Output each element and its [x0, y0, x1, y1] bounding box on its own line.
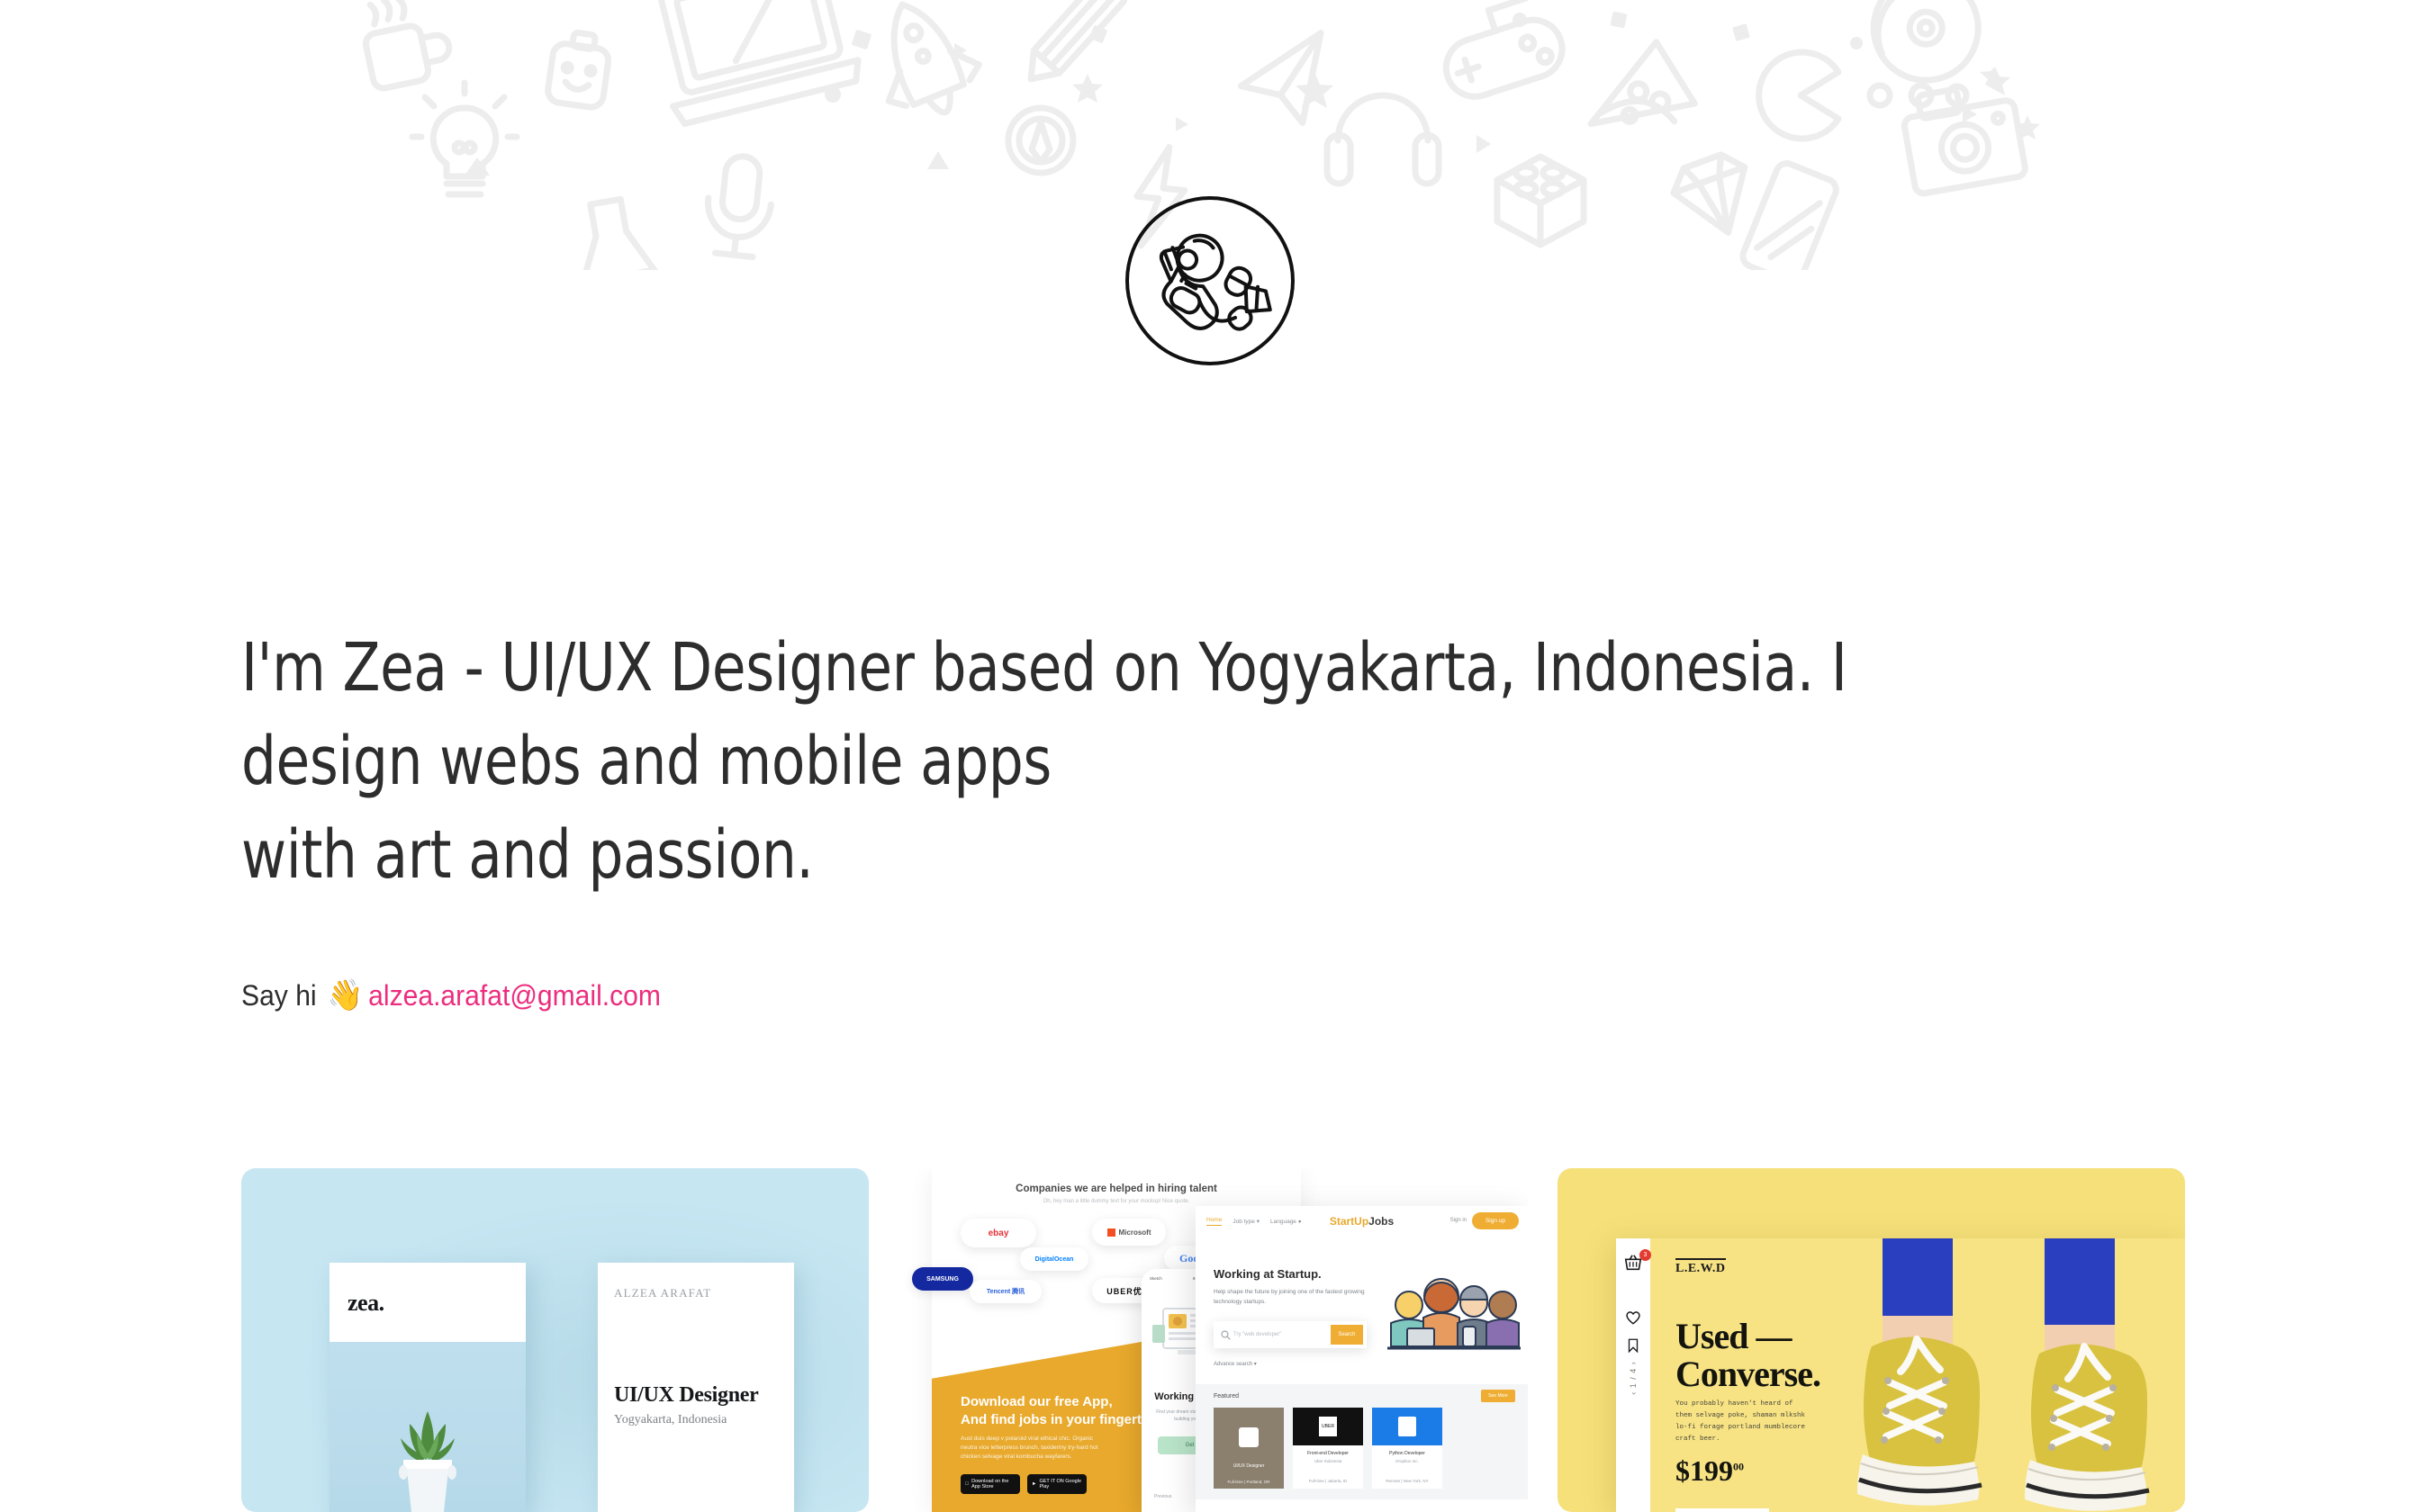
slack-logo-icon: [1239, 1427, 1259, 1447]
nav-language-label: Language: [1270, 1219, 1296, 1225]
browser-paragraph: Help shape the future by joining one of …: [1214, 1287, 1365, 1307]
lightbulb-icon: [412, 83, 517, 194]
logo-pill-microsoft: Microsoft: [1092, 1219, 1166, 1246]
product-price: $19900: [1675, 1454, 1744, 1488]
brand-mark: zea.: [348, 1290, 384, 1317]
job-thumbnail: UBER: [1293, 1408, 1363, 1445]
contact-line: Say hi 👋 alzea.arafat@gmail.com: [241, 976, 661, 1014]
converse-sneakers-photo: [1832, 1238, 2185, 1512]
promo-line-2: And find jobs in your fingertips!: [961, 1412, 1165, 1427]
promo-line-1: Download our free App,: [961, 1394, 1113, 1409]
cart-badge: 3: [1639, 1249, 1651, 1261]
job-title: Python Developer: [1372, 1451, 1442, 1456]
nav-job-type-label: Job type: [1233, 1219, 1255, 1225]
brand-card-front: zea.: [330, 1263, 526, 1512]
shop-side-rail: 3 ‹ 1 / 4 ›: [1616, 1238, 1650, 1512]
heart-icon[interactable]: [1624, 1309, 1642, 1327]
diamond-icon: [1666, 148, 1764, 246]
pagination-value: 1 / 4: [1629, 1368, 1638, 1389]
search-placeholder: Try "web developer": [1233, 1332, 1281, 1337]
shop-brand-logo: L.E.W.D: [1675, 1258, 1726, 1276]
job-meta: Full-time | Jakarta, ID: [1293, 1479, 1363, 1483]
promo-heading: Download our free App, And find jobs in …: [961, 1393, 1165, 1429]
brand-part-1: StartUp: [1330, 1215, 1368, 1228]
phone-prev-link[interactable]: Previous: [1154, 1494, 1171, 1499]
rocket-icon: [857, 0, 990, 130]
portfolio-page: I'm Zea - UI/UX Designer based on Yogyak…: [0, 0, 2420, 1512]
logo-microsoft-text: Microsoft: [1119, 1228, 1151, 1237]
promo-body: Aust duis deep v polaroid viral ethical …: [961, 1435, 1109, 1462]
work-card-lewd[interactable]: 3 ‹ 1 / 4 › L.E.W.D Used —: [1558, 1168, 2185, 1512]
play-triangle-icon: ►: [1032, 1481, 1036, 1487]
microsoft-square-icon: [1107, 1228, 1115, 1237]
logo-samsung-text: SAMSUNG: [926, 1276, 959, 1282]
contact-prefix: Say hi: [241, 976, 324, 1014]
pacman-dots-icon: [1870, 85, 1966, 105]
laptop-icon: [645, 0, 862, 125]
advance-search-label: Advance search: [1214, 1362, 1252, 1367]
designer-role: UI/UX Designer: [614, 1383, 758, 1408]
phone-carrier: Sketch: [1150, 1276, 1162, 1281]
uber-logo-icon: UBER: [1319, 1417, 1337, 1436]
job-thumbnail: [1372, 1408, 1442, 1445]
job-company: Uber Indonesia: [1293, 1459, 1363, 1463]
headline-line-3: with art and passion.: [241, 808, 1898, 902]
paper-plane-icon: [1235, 33, 1332, 130]
dropbox-logo-icon: [1398, 1417, 1416, 1436]
gamepad-icon: [1432, 0, 1570, 104]
astronaut-logo[interactable]: [1124, 195, 1296, 366]
work-cards: zea.: [0, 1168, 2420, 1512]
email-link[interactable]: alzea.arafat@gmail.com: [368, 976, 661, 1014]
headphones-icon: [1327, 95, 1439, 184]
logo-ebay-text: ebay: [989, 1228, 1009, 1238]
job-title: UI/UX Designer: [1214, 1463, 1284, 1469]
left-shoe: [1857, 1336, 1982, 1505]
google-play-badge[interactable]: ► GET IT ON Google Play: [1027, 1474, 1087, 1494]
camera-icon: [1900, 79, 2027, 194]
chevron-down-icon: ▾: [1254, 1362, 1257, 1367]
logo-digitalocean-text: DigitalOcean: [1035, 1256, 1074, 1263]
cd-icon: [1864, 0, 1988, 90]
featured-label: Featured: [1214, 1393, 1239, 1399]
pizza-icon: [1591, 32, 1705, 144]
microphone-icon: [702, 153, 775, 258]
designer-location: Yogyakarta, Indonesia: [614, 1413, 727, 1427]
search-button[interactable]: Search: [1331, 1325, 1363, 1345]
google-play-label: GET IT ON Google Play: [1039, 1479, 1082, 1489]
business-card-back: ALZEA ARAFAT UI/UX Designer Yogyakarta, …: [598, 1263, 794, 1512]
advance-search-toggle[interactable]: Advance search ▾: [1214, 1361, 1257, 1367]
apple-icon: : [965, 1481, 969, 1487]
logo-pill-tencent: Tencent 腾讯: [970, 1280, 1042, 1303]
flask-icon: [563, 194, 667, 270]
page-headline: I'm Zea - UI/UX Designer based on Yogyak…: [241, 621, 1898, 902]
work-card-stationery[interactable]: zea.: [241, 1168, 869, 1512]
price-amount: $199: [1675, 1454, 1733, 1487]
bookmark-icon[interactable]: [1625, 1337, 1641, 1354]
lego-brick-icon: [1497, 157, 1584, 245]
browser-heading: Working at Startup.: [1214, 1267, 1322, 1281]
product-title-line-2: Converse.: [1675, 1354, 1820, 1394]
nav-item-job-type[interactable]: Job type ▾: [1233, 1218, 1260, 1225]
plant-photo: [330, 1342, 526, 1512]
work-card-startupjobs[interactable]: Companies we are helped in hiring talent…: [900, 1168, 1528, 1512]
brand-part-2: Jobs: [1368, 1215, 1394, 1228]
lego-head-icon: [546, 30, 612, 109]
app-promo-banner: Download our free App, And find jobs in …: [932, 1341, 1146, 1512]
job-company: Dropbox Inc.: [1372, 1459, 1442, 1463]
nav-item-home[interactable]: Home: [1206, 1217, 1222, 1226]
partners-subheading: Oh, hey man a little dummy text for your…: [932, 1199, 1301, 1204]
logo-pill-samsung: SAMSUNG: [912, 1267, 973, 1291]
product-photo: [1832, 1238, 2185, 1512]
product-pagination: ‹ 1 / 4 ›: [1629, 1361, 1638, 1395]
browser-mockup: Home Job type ▾ Language ● StartUpJobs S…: [1196, 1206, 1528, 1512]
right-shoe: [2025, 1344, 2149, 1510]
headline-line-1: I'm Zea - UI/UX Designer based on Yogyak…: [241, 621, 1898, 715]
sign-up-button[interactable]: Sign up: [1472, 1212, 1519, 1229]
logo-pill-digitalocean: DigitalOcean: [1020, 1247, 1088, 1271]
logo-pill-ebay: ebay: [961, 1219, 1036, 1247]
coffee-mug-icon: [357, 0, 455, 90]
job-meta: Full-time | Portland, OR: [1214, 1480, 1284, 1484]
compass-icon: [1008, 108, 1073, 173]
add-to-cart-button[interactable]: ADD TO CART: [1675, 1508, 1769, 1512]
job-meta: Remote | New York, NY: [1372, 1479, 1442, 1483]
chevron-down-icon: ▾: [1257, 1219, 1260, 1225]
app-store-badge[interactable]:  Download on the App Store: [961, 1474, 1020, 1494]
pacman-icon: [1759, 52, 1838, 139]
sign-in-link[interactable]: Sign in: [1450, 1218, 1467, 1223]
team-illustration-icon: [1386, 1273, 1522, 1350]
job-search-bar[interactable]: Try "web developer" Search: [1214, 1321, 1367, 1348]
nav-item-language[interactable]: Language ●: [1270, 1219, 1302, 1225]
price-cents: 00: [1733, 1460, 1744, 1472]
search-icon: [1221, 1330, 1231, 1340]
flag-icon: ●: [1298, 1219, 1302, 1225]
job-title: Front-end Developer: [1293, 1451, 1363, 1456]
product-description: You probably haven't heard of them selva…: [1675, 1399, 1810, 1445]
succulent-plant-icon: [374, 1408, 482, 1512]
designer-name: ALZEA ARAFAT: [614, 1286, 711, 1300]
pagination-down-icon[interactable]: ›: [1629, 1361, 1638, 1364]
logo-tencent-text: Tencent 腾讯: [987, 1287, 1025, 1296]
headline-line-2: design webs and mobile apps: [241, 715, 1898, 808]
product-title: Used — Converse.: [1675, 1318, 1820, 1393]
product-title-line-1: Used —: [1675, 1316, 1791, 1356]
browser-brand-logo: StartUpJobs: [1330, 1215, 1394, 1228]
pagination-up-icon[interactable]: ‹: [1629, 1391, 1638, 1395]
smartphone-icon: [1739, 160, 1839, 270]
shop-browser-mock: 3 ‹ 1 / 4 › L.E.W.D Used —: [1616, 1238, 2185, 1512]
job-card[interactable]: UI/UX Designer Full-time | Portland, OR: [1214, 1408, 1284, 1489]
app-store-label: Download on the App Store: [971, 1479, 1016, 1489]
pencil-icon: [1018, 0, 1125, 90]
job-thumbnail: UI/UX Designer Full-time | Portland, OR: [1214, 1408, 1284, 1489]
job-card[interactable]: Python Developer Dropbox Inc. Remote | N…: [1372, 1408, 1442, 1489]
partners-heading: Companies we are helped in hiring talent: [932, 1183, 1301, 1194]
star-icon: [465, 12, 2040, 175]
astronaut-logo-icon: [1124, 195, 1296, 366]
see-more-button[interactable]: See More: [1481, 1390, 1515, 1402]
job-card[interactable]: UBER Front-end Developer Uber Indonesia …: [1293, 1408, 1363, 1489]
waving-hand-icon: 👋: [328, 980, 364, 1011]
